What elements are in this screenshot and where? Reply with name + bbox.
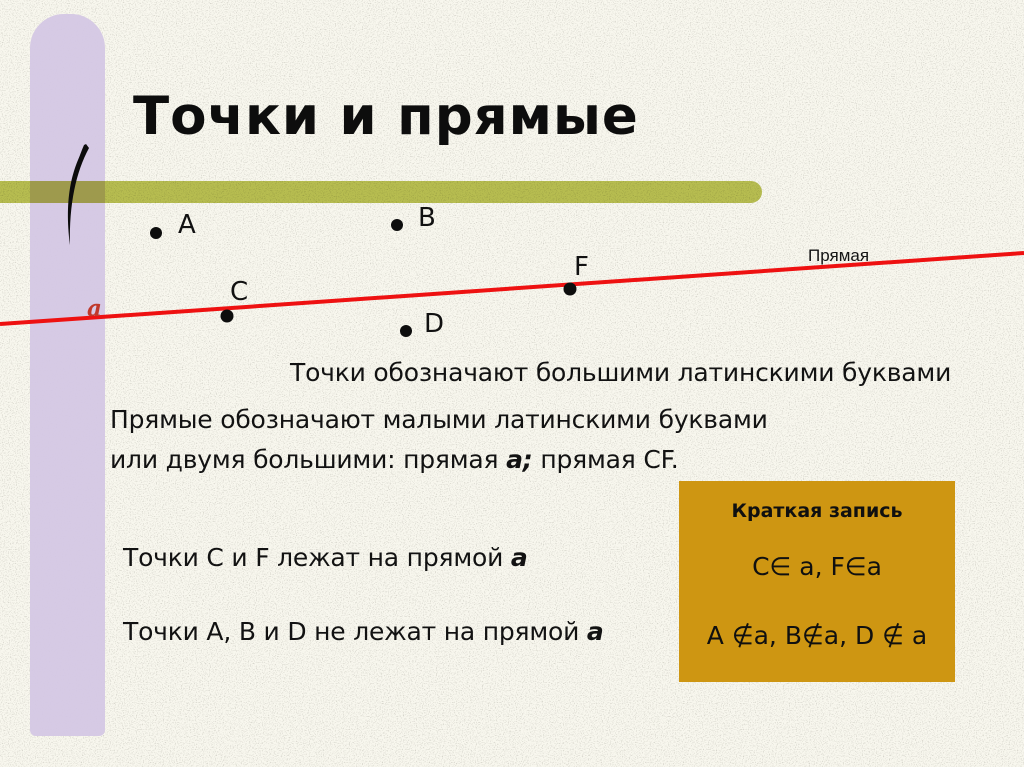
body-line-3: или двумя большими: прямая a; прямая CF. — [110, 445, 679, 474]
body-line-4-emphasis: a — [511, 543, 528, 572]
point-D-label: D — [424, 309, 444, 339]
body-line-4: Точки C и F лежат на прямой a — [123, 543, 528, 572]
body-line-3-part-b: прямая CF. — [533, 445, 679, 474]
body-line-5: Точки A, B и D не лежат на прямой a — [123, 617, 604, 646]
body-line-3-part-a: или двумя большими: прямая — [110, 445, 506, 474]
body-line-1: Точки обозначают большими латинскими бук… — [290, 358, 951, 387]
body-line-2: Прямые обозначают малыми латинскими букв… — [110, 405, 768, 434]
body-line-4-part-a: Точки C и F лежат на прямой — [123, 543, 511, 572]
crescent-doodle-icon — [56, 142, 98, 247]
point-A-dot — [150, 227, 162, 239]
point-D-dot — [400, 325, 412, 337]
line-a — [0, 253, 1024, 324]
point-F-dot — [564, 283, 577, 296]
note-card-title: Краткая запись — [679, 500, 955, 522]
note-card-row-not-belongs: A ∉a, B∉a, D ∉ a — [679, 621, 955, 650]
page-title: Точки и прямые — [133, 86, 639, 147]
slide-canvas: Точки и прямые A B C D F Прямая a Точки … — [0, 0, 1024, 767]
body-line-5-emphasis: a — [587, 617, 604, 646]
point-B-dot — [391, 219, 403, 231]
point-C-label: C — [230, 277, 248, 307]
point-F-label: F — [574, 252, 589, 282]
line-name-label: a — [87, 295, 102, 322]
point-A-label: A — [178, 210, 196, 240]
note-card-row-belongs: C∈ a, F∈a — [679, 552, 955, 581]
summary-note-card: Краткая запись C∈ a, F∈a A ∉a, B∉a, D ∉ … — [679, 481, 955, 682]
point-B-label: B — [418, 203, 436, 233]
body-line-5-part-a: Точки A, B и D не лежат на прямой — [123, 617, 587, 646]
point-C-dot — [221, 310, 234, 323]
line-caption-label: Прямая — [808, 246, 869, 266]
decorative-purple-band — [30, 14, 105, 736]
decorative-olive-band — [0, 181, 762, 203]
body-line-3-emphasis: a; — [506, 445, 532, 474]
